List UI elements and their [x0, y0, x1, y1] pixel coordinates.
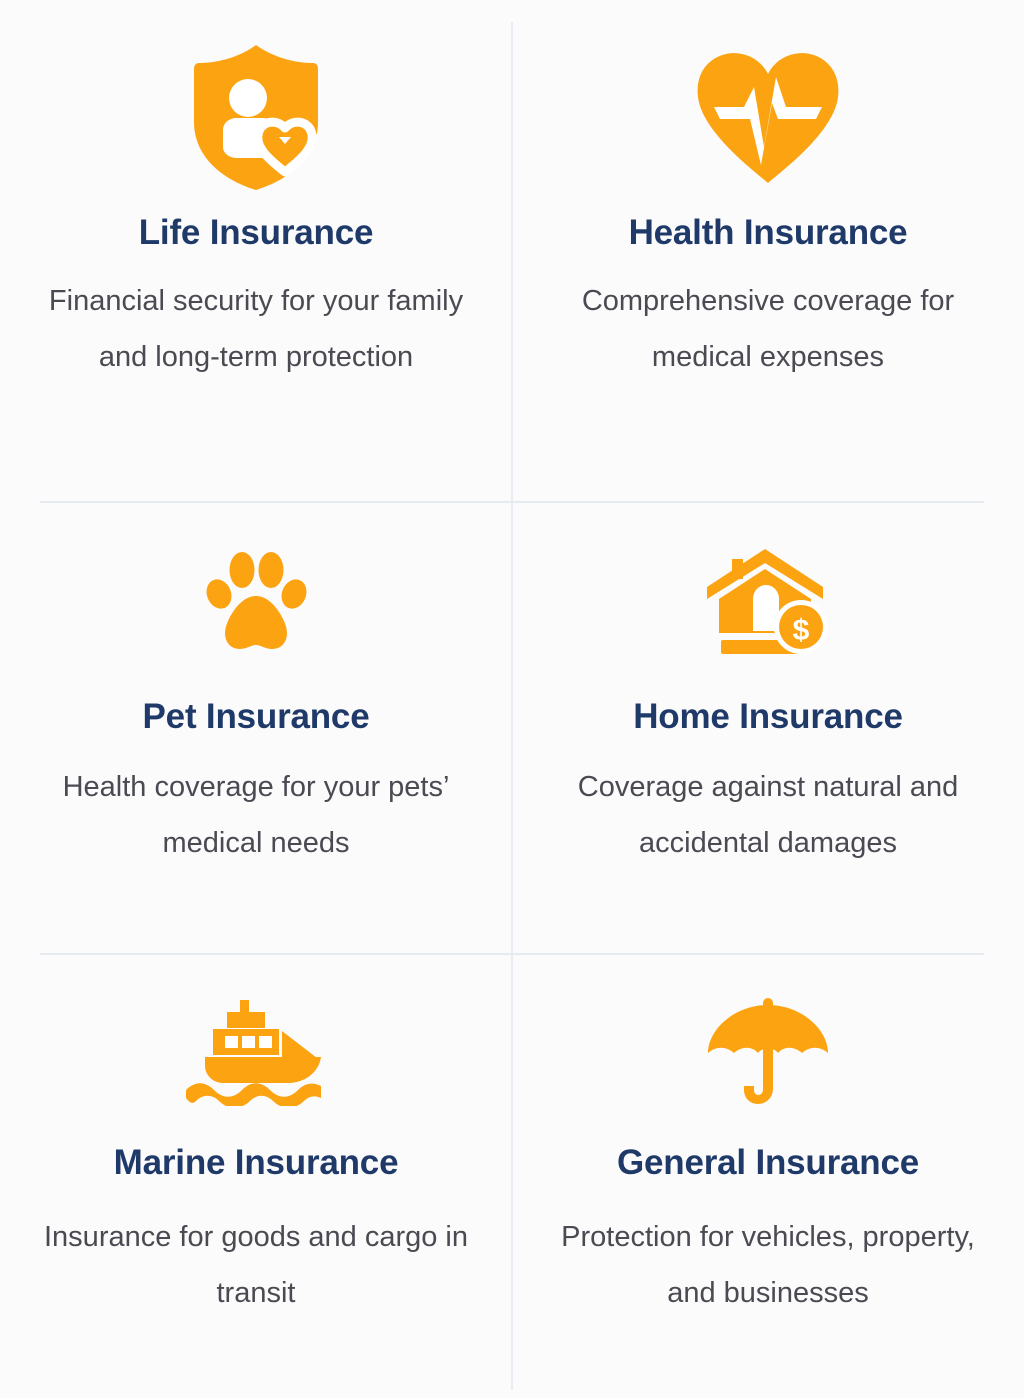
card-title: Home Insurance	[633, 698, 903, 737]
shield-person-heart-icon	[190, 42, 322, 192]
svg-text:$: $	[793, 614, 810, 647]
divider-vertical	[511, 954, 513, 1390]
insurance-card-general[interactable]: General Insurance Protection for vehicle…	[512, 954, 1024, 1398]
card-description: Insurance for goods and cargo in transit	[41, 1209, 471, 1322]
card-description: Financial security for your family and l…	[46, 273, 466, 386]
house-dollar-icon: $	[705, 532, 831, 672]
card-description: Protection for vehicles, property, and b…	[553, 1209, 983, 1322]
divider-horizontal	[40, 953, 984, 955]
insurance-card-pet[interactable]: Pet Insurance Health coverage for your p…	[0, 502, 512, 954]
card-title: Health Insurance	[629, 214, 908, 253]
umbrella-icon	[706, 982, 830, 1122]
card-title: Pet Insurance	[143, 698, 370, 737]
divider-horizontal	[40, 501, 984, 503]
card-title: Marine Insurance	[114, 1144, 399, 1183]
paw-print-icon	[201, 532, 311, 672]
insurance-card-life[interactable]: Life Insurance Financial security for yo…	[0, 0, 512, 502]
heart-pulse-icon	[692, 42, 844, 192]
insurance-card-health[interactable]: Health Insurance Comprehensive coverage …	[512, 0, 1024, 502]
divider-vertical	[511, 22, 513, 502]
card-description: Coverage against natural and accidental …	[548, 759, 988, 872]
insurance-card-home[interactable]: $ Home Insurance Coverage against natura…	[512, 502, 1024, 954]
divider-vertical	[511, 502, 513, 954]
card-title: General Insurance	[617, 1144, 919, 1183]
insurance-card-marine[interactable]: Marine Insurance Insurance for goods and…	[0, 954, 512, 1398]
card-description: Health coverage for your pets’ medical n…	[36, 759, 476, 872]
card-title: Life Insurance	[139, 214, 374, 253]
cargo-ship-icon	[181, 982, 331, 1122]
card-description: Comprehensive coverage for medical expen…	[558, 273, 978, 386]
